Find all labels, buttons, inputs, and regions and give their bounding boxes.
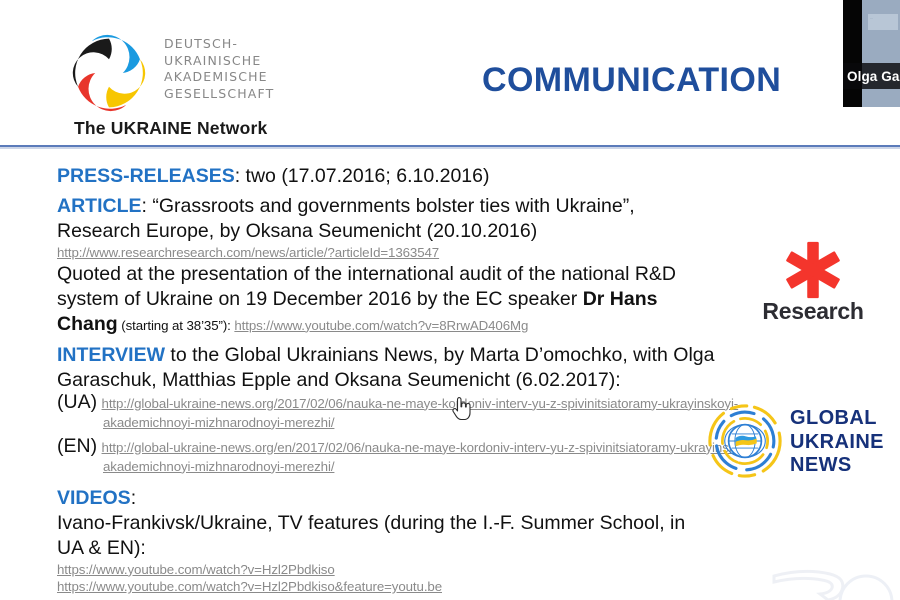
article-quote-text: system of Ukraine on 19 December 2016 by… bbox=[57, 288, 583, 310]
article-quote-line-1: Quoted at the presentation of the intern… bbox=[57, 262, 757, 287]
interview-line-2: Garaschuk, Matthias Epple and Oksana Seu… bbox=[57, 368, 757, 393]
duag-org-name: DEUTSCH- UKRAINISCHE AKADEMISCHE GESELLS… bbox=[164, 36, 274, 102]
videos-url-link-1[interactable]: https://www.youtube.com/watch?v=Hzl2Pbdk… bbox=[57, 561, 757, 579]
research-europe-logo: Research bbox=[748, 238, 878, 325]
interview-ua-link[interactable]: http://global-ukraine-news.org/2017/02/0… bbox=[102, 396, 739, 430]
article-speaker-name-part-1: Dr Hans bbox=[583, 288, 658, 310]
asterisk-icon bbox=[781, 238, 845, 302]
slide-content: PRESS-RELEASES: two (17.07.2016; 6.10.20… bbox=[57, 164, 757, 596]
interview-text-1: to the Global Ukrainians News, by Marta … bbox=[165, 344, 714, 366]
slide-header: DEUTSCH- UKRAINISCHE AKADEMISCHE GESELLS… bbox=[0, 0, 900, 147]
gun-word-line-2: UKRAINE bbox=[790, 431, 884, 455]
article-speaker-name-part-2: Chang bbox=[57, 313, 118, 335]
interview-en-label: (EN) bbox=[57, 435, 97, 457]
videos-description-line-1: Ivano-Frankivsk/Ukraine, TV features (du… bbox=[57, 511, 757, 536]
interview-ua-row: (UA) http://global-ukraine-news.org/2017… bbox=[57, 393, 757, 432]
article-url-link[interactable]: http://www.researchresearch.com/news/art… bbox=[57, 244, 757, 262]
gun-word-line-1: GLOBAL bbox=[790, 407, 884, 431]
videos-colon: : bbox=[131, 487, 136, 509]
research-wordmark: Research bbox=[748, 298, 878, 325]
article-line-2: Research Europe, by Oksana Seumenicht (2… bbox=[57, 219, 757, 244]
interview-kicker: INTERVIEW bbox=[57, 344, 165, 366]
article-kicker: ARTICLE bbox=[57, 195, 142, 217]
article-quote-line-2: system of Ukraine on 19 December 2016 by… bbox=[57, 287, 757, 312]
videos-url-link-2[interactable]: https://www.youtube.com/watch?v=Hzl2Pbdk… bbox=[57, 578, 757, 596]
header-divider-shadow bbox=[0, 147, 900, 149]
global-ukraine-news-wordmark: GLOBAL UKRAINE NEWS bbox=[790, 407, 884, 478]
presentation-slide: DEUTSCH- UKRAINISCHE AKADEMISCHE GESELLS… bbox=[0, 0, 900, 600]
interview-en-row: (EN) http://global-ukraine-news.org/en/2… bbox=[57, 437, 757, 476]
page-title: COMMUNICATION bbox=[482, 61, 781, 100]
interview-ua-label: (UA) bbox=[57, 391, 97, 413]
videos-description-line-2: UA & EN): bbox=[57, 536, 757, 561]
duag-tagline: The UKRAINE Network bbox=[74, 118, 267, 139]
press-releases-text: : two (17.07.2016; 6.10.2016) bbox=[235, 165, 490, 187]
interview-en-link[interactable]: http://global-ukraine-news.org/en/2017/0… bbox=[102, 440, 757, 474]
videos-kicker: VIDEOS bbox=[57, 487, 131, 509]
article-timestamp-note: (starting at 38’35”): bbox=[118, 318, 235, 333]
interview-line-1: INTERVIEW to the Global Ukrainians News,… bbox=[57, 343, 757, 368]
duag-logo: DEUTSCH- UKRAINISCHE AKADEMISCHE GESELLS… bbox=[66, 28, 326, 138]
article-quote-line-3: Chang (starting at 38’35”): https://www.… bbox=[57, 312, 757, 338]
globe-emblem-icon bbox=[706, 402, 784, 480]
gun-word-line-3: NEWS bbox=[790, 454, 884, 478]
article-line-1: ARTICLE: “Grassroots and governments bol… bbox=[57, 194, 757, 219]
article-youtube-link[interactable]: https://www.youtube.com/watch?v=8RrwAD40… bbox=[234, 318, 528, 333]
video-overlay-participant-name: Olga Ga bbox=[847, 69, 899, 84]
background-watermark bbox=[754, 528, 900, 600]
press-releases-kicker: PRESS-RELEASES bbox=[57, 165, 235, 187]
video-call-overlay[interactable]: ... Olga Ga bbox=[843, 0, 900, 107]
duag-pinwheel-icon bbox=[66, 30, 152, 116]
video-overlay-letterbox bbox=[843, 0, 862, 107]
global-ukraine-news-logo: GLOBAL UKRAINE NEWS bbox=[706, 402, 896, 486]
videos-line: VIDEOS: bbox=[57, 486, 757, 511]
video-overlay-shared-screen-thumb: ... bbox=[868, 14, 898, 30]
article-title-text: : “Grassroots and governments bolster ti… bbox=[142, 195, 635, 217]
press-releases-line: PRESS-RELEASES: two (17.07.2016; 6.10.20… bbox=[57, 164, 757, 189]
